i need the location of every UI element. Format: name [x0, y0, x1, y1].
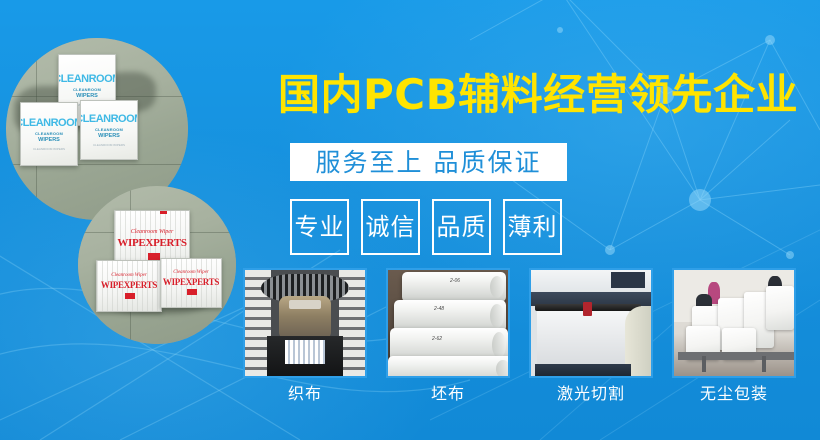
product-photo-wipexperts: Cleanroom Wiper WIPEXPERTS Cleanroom Wip… [78, 186, 236, 344]
red-logo-mark [187, 289, 197, 295]
process-cell-cleanroom-packing: 无尘包装 [672, 268, 796, 402]
pack-brand-label: CLEANROOM [58, 74, 116, 85]
subtitle-text: 服务至上 品质保证 [316, 150, 542, 175]
process-cell-laser-cutting: 激光切割 [529, 268, 653, 402]
process-caption: 织布 [288, 386, 322, 402]
promo-banner: CLEANROOM CLEANROOM WIPERS CLEANROOM WIP… [0, 0, 820, 440]
pack-script-label: Cleanroom Wiper [115, 229, 189, 235]
pack-brand-foot: CLEANROOM WIPERS [33, 147, 65, 151]
red-seal-mark [160, 210, 167, 214]
pack-brand-label: WIPEXPERTS [161, 277, 221, 287]
pack-brand-sub: CLEANROOM [73, 87, 101, 92]
red-logo-mark [125, 293, 135, 299]
pack-brand-sub: CLEANROOM [35, 131, 63, 136]
feature-tag-pinzhi: 品质 [432, 199, 491, 255]
pack-brand-label: CLEANROOM [80, 114, 138, 125]
wipexperts-pack: Cleanroom Wiper WIPEXPERTS [160, 258, 222, 308]
wipes-pack: CLEANROOM CLEANROOM WIPERS CLEANROOM WIP… [20, 102, 78, 166]
pack-brand-sub: CLEANROOM [95, 127, 123, 132]
feature-tag-zhuanye: 专业 [290, 199, 349, 255]
process-photo-strip: 织布 2-06 2-48 2-62 坯布 [243, 268, 796, 402]
wipexperts-pack: Cleanroom Wiper WIPEXPERTS [96, 260, 162, 312]
subtitle-box: 服务至上 品质保证 [290, 143, 567, 181]
pack-script-label: Cleanroom Wiper [161, 270, 221, 275]
pack-brand-foot: CLEANROOM WIPERS [93, 143, 125, 147]
pack-brand-sub2: WIPERS [38, 137, 60, 143]
feature-tag-chengxin: 诚信 [361, 199, 420, 255]
red-logo-mark [148, 253, 160, 260]
process-caption: 无尘包装 [700, 386, 768, 402]
pack-brand-label: CLEANROOM [20, 118, 78, 129]
process-cell-greige-fabric: 2-06 2-48 2-62 坯布 [386, 268, 510, 402]
tag-label: 诚信 [366, 215, 416, 239]
process-caption: 坯布 [431, 386, 465, 402]
pack-brand-label: WIPEXPERTS [115, 237, 189, 249]
tag-label: 专业 [295, 215, 345, 239]
pack-brand-sub2: WIPERS [76, 93, 98, 99]
photo-knitting-machine [243, 268, 367, 378]
tag-label: 薄利 [508, 215, 558, 239]
process-cell-weaving: 织布 [243, 268, 367, 402]
wipes-pack: CLEANROOM CLEANROOM WIPERS CLEANROOM WIP… [80, 100, 138, 160]
pack-brand-label: WIPEXPERTS [97, 280, 161, 290]
photo-laser-cutting-machine [529, 268, 653, 378]
process-caption: 激光切割 [557, 386, 625, 402]
pack-brand-sub2: WIPERS [98, 133, 120, 139]
photo-cleanroom-packing [672, 268, 796, 378]
feature-tag-list: 专业 诚信 品质 薄利 [290, 199, 562, 255]
feature-tag-baoli: 薄利 [503, 199, 562, 255]
page-title: 国内PCB辅料经营领先企业 [278, 74, 798, 116]
red-seal-mark [219, 258, 222, 259]
photo-fabric-rolls: 2-06 2-48 2-62 [386, 268, 510, 378]
tag-label: 品质 [437, 215, 487, 239]
pack-script-label: Cleanroom Wiper [97, 273, 161, 278]
